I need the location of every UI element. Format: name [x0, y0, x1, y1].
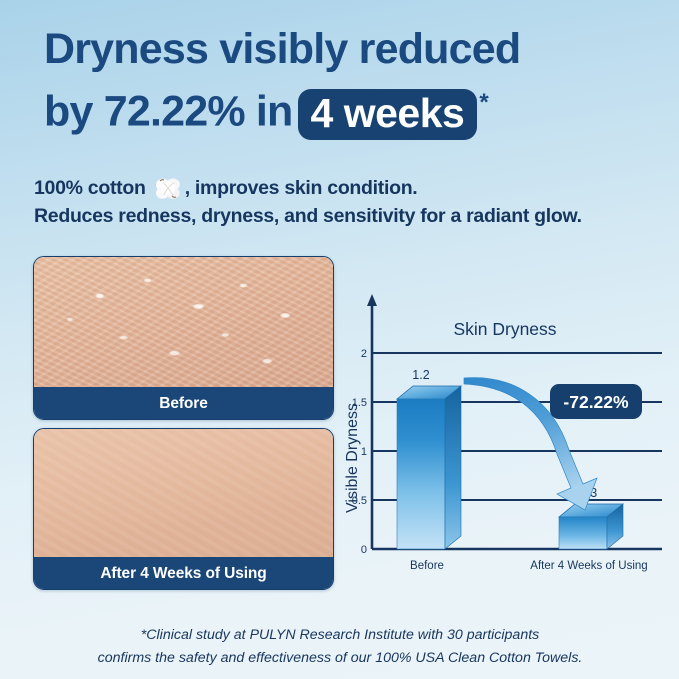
ytick-label-1: 1	[361, 446, 367, 458]
subtitle-line-1-after: , improves skin condition.	[185, 177, 418, 199]
ytick-label-0: 0	[361, 544, 367, 556]
headline-line-2: by 72.22% in4 weeks*	[44, 78, 644, 138]
page-title: Dryness visibly reduced by 72.22% in4 we…	[44, 24, 644, 138]
xtick-label-before: Before	[410, 560, 444, 572]
skin-photo-after	[34, 429, 333, 557]
skin-photo-before	[34, 257, 333, 387]
footnote-line-1: *Clinical study at PULYN Research Instit…	[40, 624, 640, 647]
cotton-boll-icon	[153, 175, 183, 201]
subtitle-line-1-before: 100% cotton	[34, 177, 146, 199]
bar-before-front-face	[397, 399, 445, 549]
headline-line-2-prefix: by 72.22% in	[44, 87, 293, 135]
bar-before	[397, 386, 461, 549]
ytick-label-2: 2	[361, 348, 367, 360]
chart-y-axis-label: Visible Dryness	[345, 403, 361, 513]
bar-after-front-face	[559, 517, 607, 549]
bar-after	[559, 504, 623, 549]
bar-before-value-label: 1.2	[412, 368, 429, 382]
headline-asterisk: *	[479, 89, 488, 116]
bar-before-side-face	[445, 386, 461, 549]
panel-caption-after: After 4 Weeks of Using	[34, 557, 333, 590]
headline-badge-weeks: 4 weeks	[298, 89, 478, 140]
panel-caption-before: Before	[34, 387, 333, 420]
comparison-panel-after: After 4 Weeks of Using	[33, 428, 334, 590]
subtitle: 100% cotton , improves skin condition.	[34, 174, 654, 230]
subtitle-line-2: Reduces redness, dryness, and sensitivit…	[34, 202, 654, 230]
comparison-panel-before: Before	[33, 256, 334, 420]
y-axis-arrowhead	[367, 294, 377, 306]
xtick-label-after: After 4 Weeks of Using	[530, 560, 647, 572]
headline-line-1: Dryness visibly reduced	[44, 24, 644, 74]
chart-title: Skin Dryness	[453, 319, 556, 339]
reduction-badge-label: -72.22%	[563, 392, 629, 412]
footnote: *Clinical study at PULYN Research Instit…	[40, 624, 640, 670]
infographic-canvas: Dryness visibly reduced by 72.22% in4 we…	[0, 0, 679, 679]
reduction-badge: -72.22%	[550, 384, 642, 419]
footnote-line-2: confirms the safety and effectiveness of…	[40, 647, 640, 670]
subtitle-line-1: 100% cotton , improves skin condition.	[34, 174, 654, 202]
skin-dryness-bar-chart: 2 1.5 1 0.5 0 Visible Dryness Skin Dryne…	[345, 288, 670, 588]
